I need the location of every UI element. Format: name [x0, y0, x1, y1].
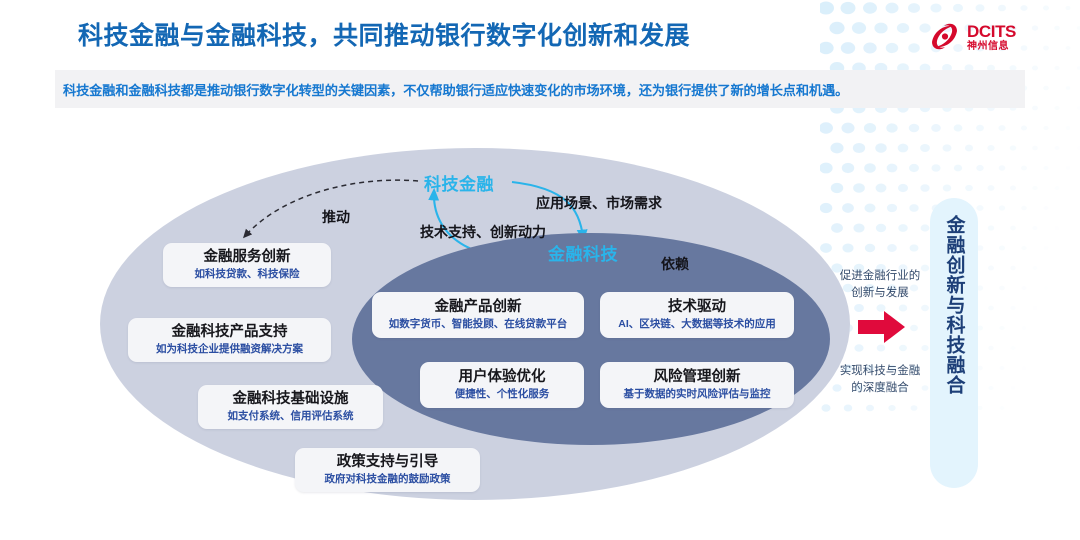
card-tech-driven[interactable]: 技术驱动 AI、区块链、大数据等技术的应用 — [600, 292, 794, 338]
card-title: 政策支持与引导 — [337, 454, 439, 471]
card-subtitle: 如数字货币、智能投顾、在线贷款平台 — [389, 318, 568, 331]
card-subtitle: 如科技贷款、科技保险 — [195, 268, 300, 281]
right-note-bottom: 实现科技与金融的深度融合 — [838, 363, 922, 396]
label-jinrong-keji: 金融科技 — [548, 240, 618, 265]
logo-english-name: DCITS — [967, 23, 1016, 40]
card-title: 金融服务创新 — [204, 249, 291, 266]
card-subtitle: 如为科技企业提供融资解决方案 — [156, 343, 303, 356]
card-subtitle: 如支付系统、信用评估系统 — [228, 410, 354, 423]
label-yilai: 依赖 — [661, 254, 689, 274]
card-subtitle: 便捷性、个性化服务 — [455, 388, 550, 401]
card-subtitle: AI、区块链、大数据等技术的应用 — [618, 318, 776, 331]
card-title: 风险管理创新 — [654, 369, 741, 386]
card-fintech-product[interactable]: 金融科技产品支持 如为科技企业提供融资解决方案 — [128, 318, 331, 362]
card-policy-support[interactable]: 政策支持与引导 政府对科技金融的鼓励政策 — [295, 448, 480, 492]
card-subtitle: 政府对科技金融的鼓励政策 — [325, 473, 451, 486]
slide-canvas: 科技金融与金融科技，共同推动银行数字化创新和发展 DCITS 神州信息 科技金融… — [0, 0, 1080, 540]
label-keji-jinrong: 科技金融 — [424, 170, 494, 195]
logo-chinese-name: 神州信息 — [967, 42, 1016, 52]
logo-text: DCITS 神州信息 — [967, 23, 1016, 52]
card-title: 用户体验优化 — [459, 369, 546, 386]
card-title: 金融科技基础设施 — [233, 391, 349, 408]
card-risk-management[interactable]: 风险管理创新 基于数据的实时风险评估与监控 — [600, 362, 794, 408]
label-application-scene: 应用场景、市场需求 — [536, 193, 662, 213]
card-product-innovation[interactable]: 金融产品创新 如数字货币、智能投顾、在线贷款平台 — [372, 292, 584, 338]
right-vertical-title: 金融创新与科技融合 — [930, 215, 978, 465]
brand-logo: DCITS 神州信息 — [928, 19, 1060, 55]
dcits-swoosh-icon — [928, 22, 962, 52]
label-tech-support: 技术支持、创新动力 — [420, 222, 546, 242]
label-tuidong: 推动 — [322, 207, 350, 227]
subtitle-banner: 科技金融和金融科技都是推动银行数字化转型的关键因素，不仅帮助银行适应快速变化的市… — [55, 70, 1025, 108]
right-arrow-icon — [858, 310, 906, 344]
page-title: 科技金融与金融科技，共同推动银行数字化创新和发展 — [78, 16, 838, 52]
card-fintech-infra[interactable]: 金融科技基础设施 如支付系统、信用评估系统 — [198, 385, 383, 429]
card-fin-service[interactable]: 金融服务创新 如科技贷款、科技保险 — [163, 243, 331, 287]
subtitle-text: 科技金融和金融科技都是推动银行数字化转型的关键因素，不仅帮助银行适应快速变化的市… — [63, 80, 848, 99]
card-title: 金融产品创新 — [435, 299, 522, 316]
card-title: 技术驱动 — [668, 299, 726, 316]
card-ux-optimization[interactable]: 用户体验优化 便捷性、个性化服务 — [420, 362, 584, 408]
right-note-top: 促进金融行业的创新与发展 — [838, 268, 922, 301]
card-subtitle: 基于数据的实时风险评估与监控 — [624, 388, 771, 401]
card-title: 金融科技产品支持 — [172, 324, 288, 341]
